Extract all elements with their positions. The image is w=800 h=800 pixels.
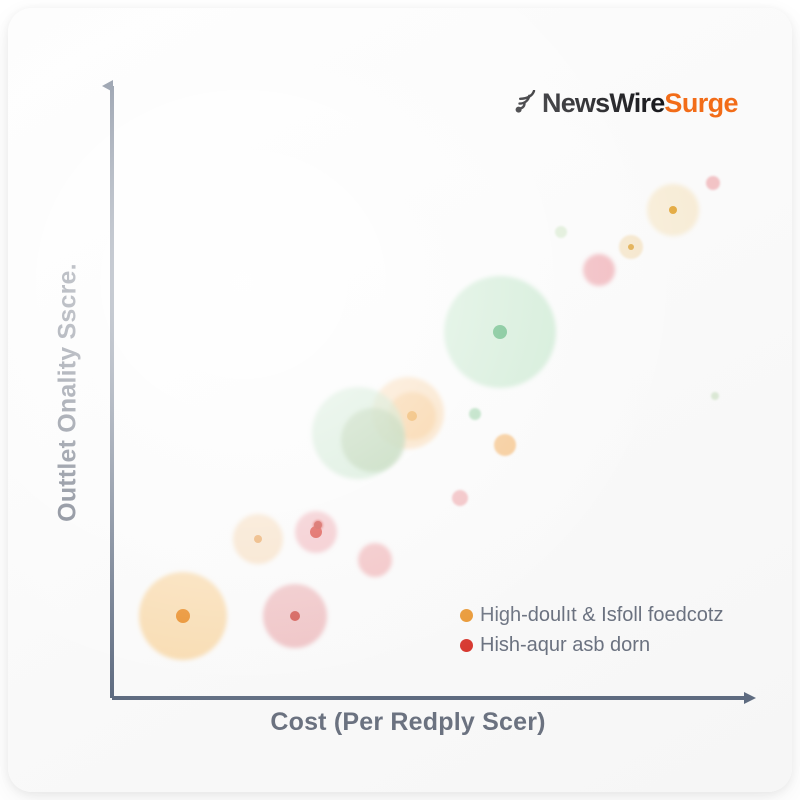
x-axis-title: Cost (Per Redply Scer) — [188, 708, 628, 737]
bubble-center-dot[interactable] — [314, 521, 322, 529]
bubble-point[interactable] — [555, 226, 567, 238]
bubble-point[interactable] — [358, 543, 392, 577]
brand-logo: NewsWire Surge — [513, 84, 738, 122]
bubble-point[interactable] — [494, 434, 516, 456]
legend-item[interactable]: High-doulıt & Isfoll foedcotz — [460, 600, 723, 630]
chart-legend: High-doulıt & Isfoll foedcotz Hish-aqur … — [460, 600, 723, 660]
bubble-point[interactable] — [711, 392, 719, 400]
bubble-point[interactable] — [469, 408, 481, 420]
bubble-point[interactable] — [583, 254, 615, 286]
bubble-center-dot[interactable] — [628, 244, 634, 250]
legend-color-swatch-icon — [460, 609, 473, 622]
legend-color-swatch-icon — [460, 639, 473, 652]
y-axis-title: Outtlet Onality Sscre. — [54, 233, 83, 553]
bubble-center-dot[interactable] — [493, 325, 507, 339]
screenshot-root: NewsWire Surge Cost (Per Redply Scer) Ou… — [0, 0, 800, 800]
legend-item-label: Hish-aqur asb dorn — [480, 634, 650, 657]
logo-word-primary: NewsWire — [542, 88, 664, 119]
legend-item-label: High-doulıt & Isfoll foedcotz — [480, 604, 723, 627]
bubble-center-dot[interactable] — [254, 535, 262, 543]
bubble-center-dot[interactable] — [407, 411, 417, 421]
bubble-center-dot[interactable] — [176, 609, 190, 623]
bubble-chart-plot — [8, 8, 792, 792]
bubble-center-dot[interactable] — [669, 206, 677, 214]
chart-card: NewsWire Surge Cost (Per Redply Scer) Ou… — [8, 8, 792, 792]
bubble-point[interactable] — [452, 490, 468, 506]
legend-item[interactable]: Hish-aqur asb dorn — [460, 630, 723, 660]
bubble-point[interactable] — [706, 176, 720, 190]
bubble-point[interactable] — [341, 408, 405, 472]
bubble-center-dot[interactable] — [290, 611, 300, 621]
rss-wave-icon — [513, 90, 539, 116]
logo-word-accent: Surge — [664, 88, 738, 119]
